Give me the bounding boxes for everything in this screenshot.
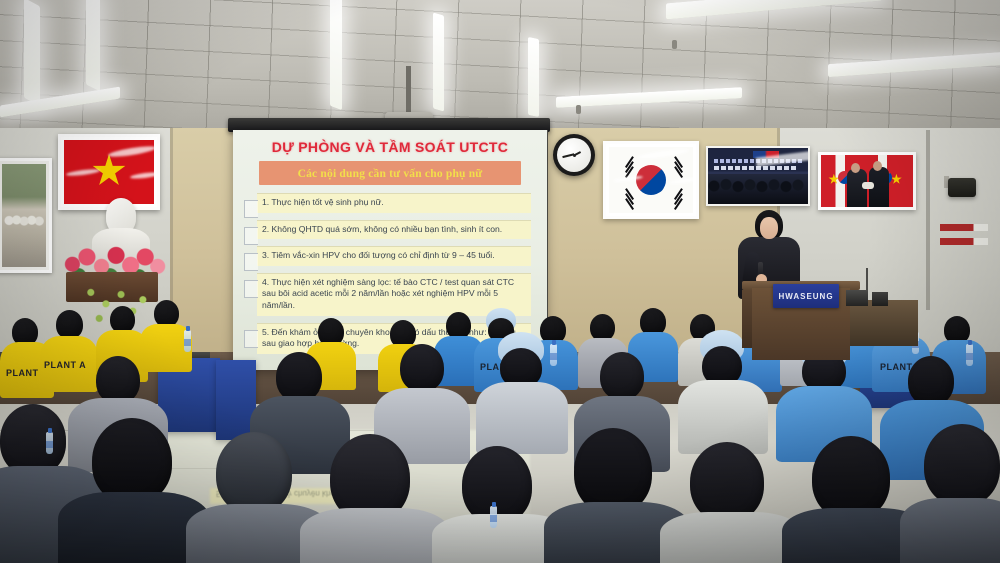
podium-brand-text: HWASEUNG [778,292,833,301]
water-bottle [490,506,497,528]
handshake-icon [862,182,874,189]
sprinkler-head [576,105,581,114]
water-bottle [184,330,191,352]
person-head [462,446,532,524]
wall-clock-icon [553,134,595,176]
slide-bullet: 4. Thực hiện xét nghiệm sàng lọc: tế bào… [257,273,531,316]
vietnam-flag-icon [64,140,154,204]
vietnam-flag-frame [58,134,160,210]
taeguk-icon [636,165,666,195]
slide-title: DỰ PHÒNG VÀ TẦM SOÁT UTCTC [243,139,537,155]
banner-group-photo [708,174,808,204]
person-head [216,432,292,514]
person-head [276,352,322,402]
sprinkler-head [672,40,677,49]
person-torso [900,498,1000,563]
person-torso [476,382,568,454]
wall-stripe-marker [940,238,988,245]
water-bottle [550,344,557,366]
ceiling-light [24,0,40,106]
person-head [56,310,83,339]
person-head [908,356,954,406]
glass-glare [637,147,689,160]
forum-banner-photo [706,146,810,206]
person-head [600,352,644,400]
slide-subtitle: Các nội dung cần tư vấn cho phụ nữ [298,168,483,180]
ceiling-light [528,37,539,117]
bottle-label [490,515,497,522]
water-bottle [966,344,973,366]
av-equipment [872,292,888,306]
water-bottle [46,432,53,454]
ceiling-light [433,12,444,111]
slide-bullet: 1. Thực hiện tốt vệ sinh phụ nữ. [257,193,531,213]
wall-stripe-marker [940,224,988,231]
ceiling-light [330,0,342,110]
clock-face [557,138,591,172]
glass-glare [669,177,693,185]
person-head [110,306,135,333]
bottle-label [184,339,191,346]
side-table [838,300,918,346]
person-head [690,442,764,522]
shirt-label: PLANT A [44,360,86,370]
wall-photo-left [0,158,52,273]
person-head [446,312,471,339]
slide-subtitle-band: Các nội dung cần tư vấn cho phụ nữ [259,161,521,185]
glass-glare [108,144,154,158]
korea-flag-icon [609,147,693,213]
person-head [590,314,615,341]
slide-bullet: 2. Không QHTD quá sớm, không có nhiều bạ… [257,220,531,240]
presenter-face [760,217,778,239]
slide-bullet: 3. Tiêm vắc-xin HPV cho đối tượng có chỉ… [257,246,531,266]
korea-flag-frame [603,141,699,219]
person-head [154,300,179,327]
av-equipment [846,290,868,306]
person-torso [660,512,802,563]
glass-glare [66,168,100,177]
bottle-label [966,353,973,360]
conference-hall-photo: DỰ PHÒNG VÀ TẦM SOÁT UTCTC Các nội dung … [0,0,1000,563]
projector-mount [406,66,411,118]
bottle-label [46,441,53,448]
person-head [400,344,444,392]
person-head [924,424,1000,506]
loudspeaker-icon [948,178,976,197]
handshake-photo-frame [818,152,916,210]
clock-center-pin [573,154,576,157]
ceiling-light [86,0,100,91]
podium-brand-plate: HWASEUNG [773,284,839,308]
photo-content [2,164,46,267]
bottle-label [550,353,557,360]
person-head [96,356,140,404]
wall-edge [926,130,930,310]
glass-glare [130,171,154,180]
person-torso [300,508,450,563]
